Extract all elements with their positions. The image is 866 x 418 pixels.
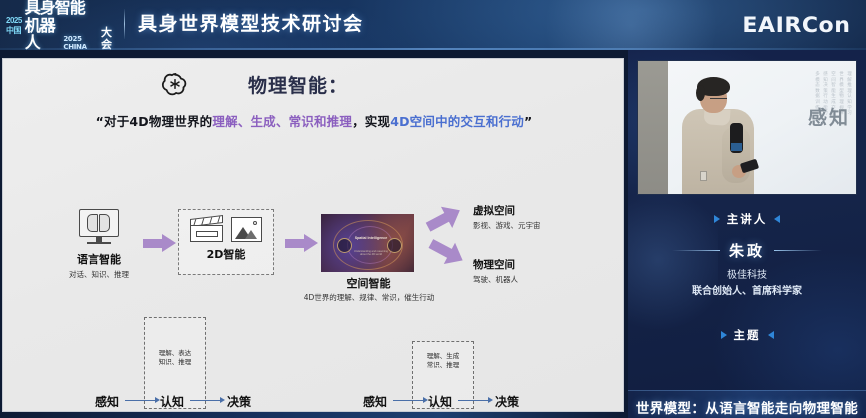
logo-line-2: 机器人 (25, 17, 62, 50)
microphone-icon (730, 123, 743, 153)
conference-logo: 2025 中国 具身智能 机器人 2025 CHINA 大会 (6, 4, 118, 46)
quote-open: “对于4D物理世界的 (96, 114, 213, 129)
speaker-name-row: 朱政 (628, 240, 866, 261)
logo-badge: 2025 CHINA (63, 35, 99, 50)
speaker-name: 朱政 (729, 240, 765, 261)
node-sublabel: 4D世界的理解、规律、常识，催生行动 (261, 292, 477, 303)
logo-line-2-suffix: 大会 (101, 27, 118, 50)
pipeline-caption-1: 理解、生成 (427, 352, 460, 361)
pipeline-step-perceive: 感知 (95, 393, 119, 410)
pipeline-step-cognize: 认知 (160, 393, 184, 410)
speaker-section-tag: 主讲人 (628, 210, 866, 228)
output-physical-space: 物理空间 驾驶、机器人 (473, 257, 518, 285)
openai-logo (160, 69, 190, 99)
node-label: 语言智能 (49, 251, 149, 267)
pipeline-step-decide: 决策 (227, 393, 251, 410)
node-label: 空间智能 (306, 275, 431, 291)
arrow-branch-up (422, 197, 473, 243)
speaker-video-feed[interactable]: 理解推理认知学习 世界模型物理规律 空间智能生成交互 感知决策行动能力 多模态数… (637, 60, 857, 195)
triangle-left-icon (714, 215, 720, 223)
pipeline-step-perceive: 感知 (363, 393, 387, 410)
node-spatial-intelligence-label: 空间智能 (306, 275, 431, 291)
node-2d-intelligence: 2D智能 (178, 209, 274, 275)
pipeline-step-decide: 决策 (495, 393, 519, 410)
monitor-book-icon (77, 209, 121, 247)
arrow-right-1 (143, 234, 177, 252)
output-title: 虚拟空间 (473, 203, 541, 218)
pipeline-caption-1: 理解、表达 (159, 349, 192, 358)
header-glow (516, 0, 746, 50)
quote-highlight-2: 常识和推理 (289, 114, 353, 129)
node-label: 2D智能 (179, 246, 273, 262)
brand-logo-eaircon: EAIRCon (743, 13, 851, 37)
slide-quote: “对于4D物理世界的理解、生成、常识和推理，实现4D空间中的交互和行动” (31, 111, 597, 130)
quote-highlight-3: 4D空间中的交互和行动 (390, 114, 524, 129)
speaker-org: 极佳科技 (628, 268, 866, 283)
triangle-right-icon (768, 331, 774, 339)
speaker-role-text: 联合创始人、首席科学家 (692, 286, 802, 297)
output-title: 物理空间 (473, 257, 518, 272)
presentation-slide: 物理智能： “对于4D物理世界的理解、生成、常识和推理，实现4D空间中的交互和行… (2, 58, 624, 412)
section-tag-label: 主讲人 (727, 211, 768, 227)
slide-title: 物理智能： (248, 71, 348, 98)
spatial-intelligence-card: Spatial Intelligence Understanding and r… (319, 212, 416, 274)
clapperboard-icon (190, 217, 223, 242)
slide-bottom-strip (0, 412, 628, 418)
topic-banner: 世界模型：从语言智能走向物理智能 (628, 390, 866, 418)
logo-year: 2025 (6, 16, 22, 25)
header-divider (124, 9, 125, 39)
glasses-icon (710, 94, 727, 99)
pipeline-step-cognize: 认知 (428, 393, 452, 410)
arrow-right-2 (285, 234, 319, 252)
event-header-bar: 2025 中国 具身智能 机器人 2025 CHINA 大会 具身世界模型技术研… (0, 0, 866, 50)
screen-overlay-text: 感知 (808, 103, 850, 130)
logo-country: 中国 (6, 26, 22, 35)
node-spatial-intelligence-sub: 4D世界的理解、规律、常识，催生行动 (261, 290, 477, 303)
name-rule-right (774, 250, 822, 251)
pipeline-caption-2: 知识、推理 (159, 358, 192, 367)
node-sublabel: 对话、知识、推理 (49, 269, 149, 280)
triangle-left-icon (721, 331, 727, 339)
arrow-branch-down (422, 233, 473, 279)
output-sublabel: 驾驶、机器人 (473, 274, 518, 285)
logo-line-1: 具身智能 (25, 0, 118, 16)
topic-section-tag: 主题 (628, 326, 866, 344)
node-language-intelligence: 语言智能 对话、知识、推理 (49, 209, 149, 280)
output-sublabel: 影视、游戏、元宇宙 (473, 220, 541, 231)
pipeline-caption-2: 常识、推理 (427, 361, 460, 370)
speaker-info-panel: 理解推理认知学习 世界模型物理规律 空间智能生成交互 感知决策行动能力 多模态数… (628, 50, 866, 418)
broadcast-screen: 2025 中国 具身智能 机器人 2025 CHINA 大会 具身世界模型技术研… (0, 0, 866, 418)
speaker-role: 联合创始人、首席科学家 (628, 284, 866, 299)
event-title: 具身世界模型技术研讨会 (138, 10, 364, 38)
topic-title: 世界模型：从语言智能走向物理智能 (636, 397, 858, 417)
spatial-card-caption: Understanding and reasoning about the 4D… (351, 250, 391, 257)
spatial-card-title: Spatial Intelligence (354, 236, 388, 241)
image-icon (231, 217, 262, 242)
section-tag-label: 主题 (734, 327, 761, 343)
quote-highlight-1: 理解、生成、 (212, 114, 288, 129)
triangle-right-icon (774, 215, 780, 223)
quote-middle: ，实现 (352, 114, 390, 129)
quote-close: ” (524, 114, 532, 129)
output-virtual-space: 虚拟空间 影视、游戏、元宇宙 (473, 203, 541, 231)
name-rule-left (672, 250, 720, 251)
